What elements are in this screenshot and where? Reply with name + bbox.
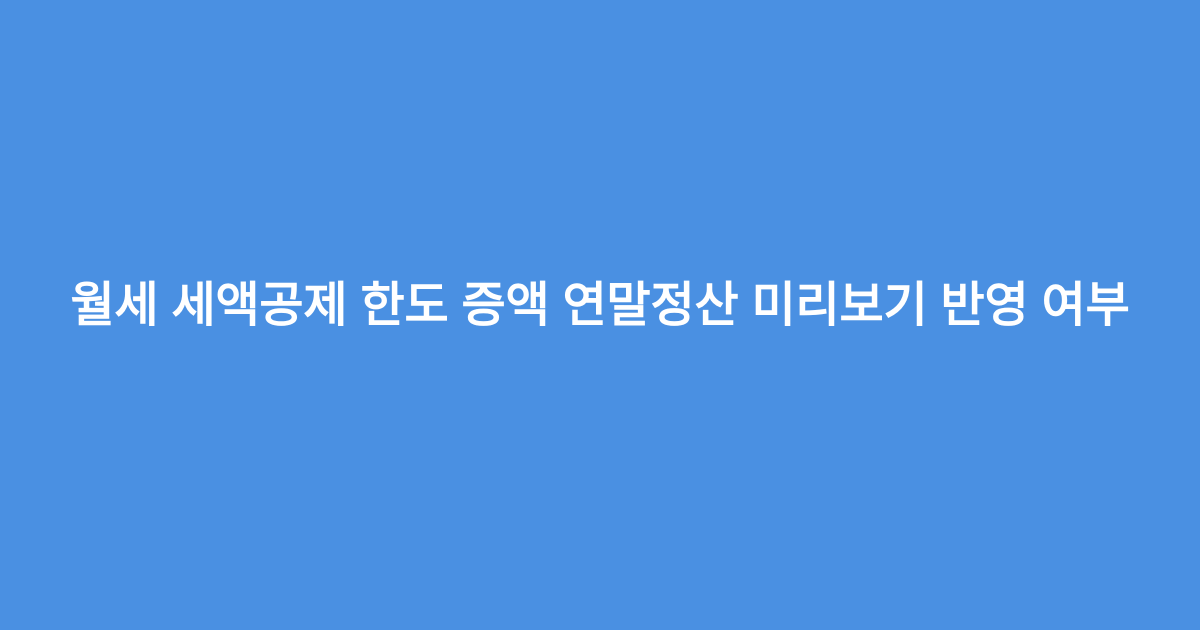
page-title: 월세 세액공제 한도 증액 연말정산 미리보기 반영 여부 (56, 275, 1144, 336)
thumbnail-card: 월세 세액공제 한도 증액 연말정산 미리보기 반영 여부 (0, 0, 1200, 630)
